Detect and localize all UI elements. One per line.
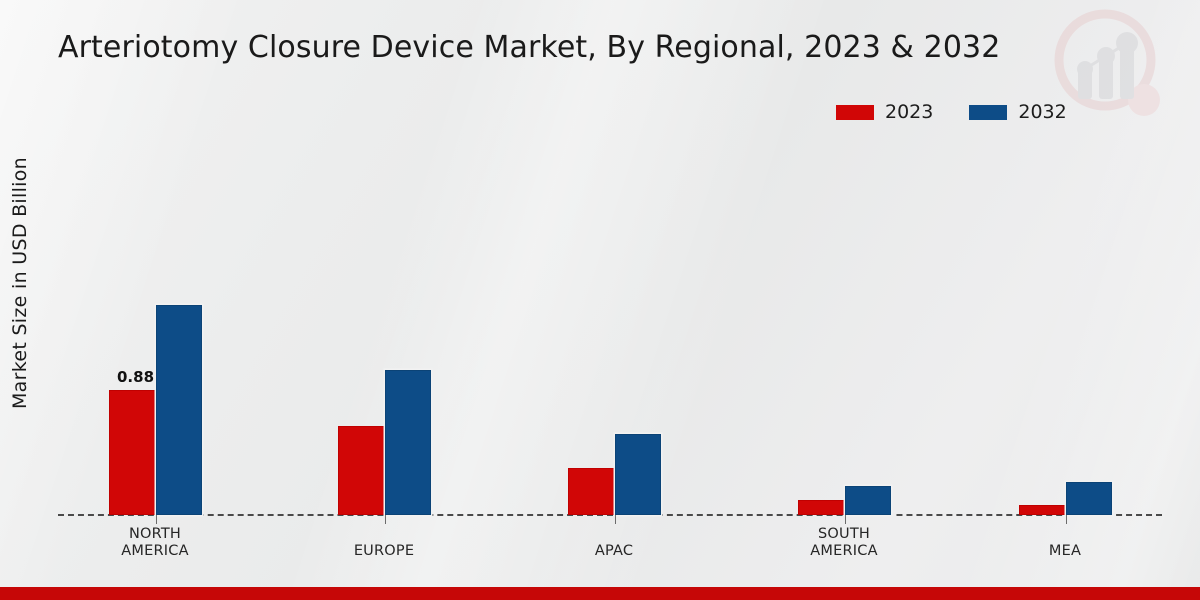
x-label-north-america-line2: AMERICA <box>65 543 245 560</box>
footer-accent-bar <box>0 587 1200 600</box>
bars-south-america <box>798 486 891 515</box>
x-label-europe-line1: EUROPE <box>294 543 474 560</box>
chart-figure: Arteriotomy Closure Device Market, By Re… <box>0 0 1200 600</box>
bar-value-label-north-america-2023: 0.88 <box>117 368 154 386</box>
x-label-north-america-line1: NORTH <box>65 526 245 543</box>
x-tick-europe <box>385 515 386 524</box>
x-label-south-america-line2: AMERICA <box>754 543 934 560</box>
x-tick-apac <box>615 515 616 524</box>
bar-2023-north-america[interactable] <box>109 390 156 515</box>
x-tick-mea <box>1066 515 1067 524</box>
x-label-south-america-line1: SOUTH <box>754 526 934 543</box>
bar-2023-south-america[interactable] <box>798 500 845 515</box>
plot-area: 0.88 NORTH AMERICA EUROPE <box>0 0 1200 600</box>
bars-europe <box>338 370 431 515</box>
x-label-south-america: SOUTH AMERICA <box>754 526 934 560</box>
x-label-mea: MEA <box>975 543 1155 560</box>
x-label-north-america: NORTH AMERICA <box>65 526 245 560</box>
bar-2023-mea[interactable] <box>1019 505 1066 515</box>
x-tick-north-america <box>156 515 157 524</box>
bars-mea <box>1019 482 1112 515</box>
x-tick-south-america <box>845 515 846 524</box>
bar-group-south-america: SOUTH AMERICA <box>798 0 890 600</box>
bar-group-mea: MEA <box>1019 0 1111 600</box>
bar-group-europe: EUROPE <box>338 0 430 600</box>
bar-2032-south-america[interactable] <box>845 486 891 515</box>
bar-group-north-america: 0.88 NORTH AMERICA <box>109 0 201 600</box>
bar-group-apac: APAC <box>568 0 660 600</box>
bar-2032-europe[interactable] <box>385 370 431 515</box>
bar-2032-mea[interactable] <box>1066 482 1112 515</box>
x-label-apac: APAC <box>524 543 704 560</box>
x-label-mea-line1: MEA <box>975 543 1155 560</box>
x-label-europe: EUROPE <box>294 543 474 560</box>
bar-2032-north-america[interactable] <box>156 305 202 515</box>
bars-north-america <box>109 305 202 515</box>
bar-2023-apac[interactable] <box>568 468 615 515</box>
bar-2023-europe[interactable] <box>338 426 385 515</box>
bars-apac <box>568 434 661 515</box>
bar-2032-apac[interactable] <box>615 434 661 515</box>
x-label-apac-line1: APAC <box>524 543 704 560</box>
